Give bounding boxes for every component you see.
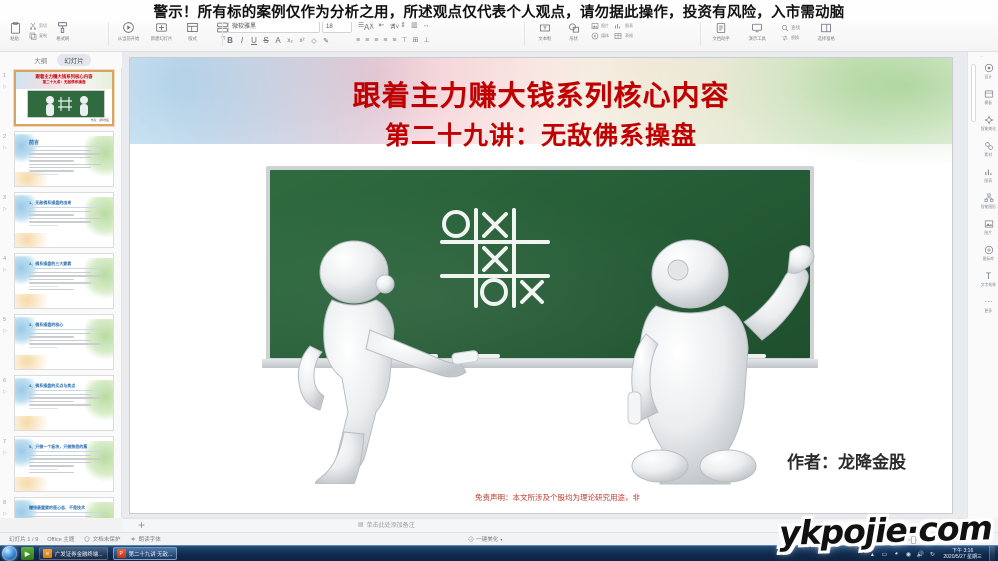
warning-banner: 警示！所有标的案例仅作为分析之用，所述观点仅代表个人观点，请勿据此操作，投资有风… — [0, 0, 998, 22]
ribbon-divider-2 — [222, 22, 223, 46]
wps-presentation-window: 第二十九讲 无敌佛系操盘.pptx + 粘贴 剪切 — [0, 0, 998, 545]
thumb1-chalkboard — [27, 90, 105, 118]
rail-label-icons: 图标库 — [983, 256, 994, 261]
present-tools-label: 演示工具 — [748, 36, 765, 42]
align-center-button[interactable]: ≡ — [365, 37, 369, 44]
paragraph-toolbar-top: ☰ ⑂ ⇤ ⇥ ⇕ ▥ ↔ — [358, 21, 430, 29]
figure-left — [292, 234, 512, 484]
thumb4-deco-bottom — [15, 294, 55, 309]
thumbnail-row-5[interactable]: 5 ▷ 3、佛系操盘的核心 — [0, 312, 122, 373]
rail-item-list: 设计 模板 智能美化 — [978, 62, 998, 322]
tray-sync-icon[interactable]: ↻ — [928, 550, 936, 558]
textbox-icon — [538, 20, 553, 35]
shield-icon — [84, 536, 91, 543]
thumb3-deco-bottom — [15, 233, 55, 248]
paste-icon — [8, 20, 23, 35]
thumb5-title: 3、佛系操盘的核心 — [29, 322, 63, 328]
ribbon-divider-1 — [108, 22, 109, 46]
columns-button[interactable]: ▥ — [411, 21, 418, 29]
media-icon — [590, 31, 599, 40]
bold-button[interactable]: B — [226, 36, 234, 45]
decrease-indent-button[interactable]: ⇤ — [378, 21, 384, 29]
find-icon — [780, 23, 789, 32]
subscript-button[interactable]: x₂ — [286, 38, 294, 44]
clear-format-button[interactable]: ◇ — [310, 37, 318, 45]
format-painter-icon — [55, 20, 70, 35]
slide-author[interactable]: 作者：龙降金股 — [787, 448, 906, 473]
table-button[interactable]: 表格 — [614, 31, 634, 40]
present-tools-icon — [750, 20, 765, 35]
thumbnail-row-2[interactable]: 2 ▷ 前言 — [0, 129, 122, 190]
text-highlight-button[interactable]: ✎ — [322, 37, 330, 45]
material-icon — [983, 140, 994, 151]
cut-icon — [28, 21, 37, 30]
align-top-button[interactable]: ⊤ — [401, 36, 407, 44]
taskbar-label-wps: 第二十九讲 无敌... — [129, 550, 173, 558]
rail-item-beautify[interactable]: 智能美化 — [978, 114, 998, 131]
picture-label: 图片 — [601, 23, 609, 29]
template-icon — [983, 88, 994, 99]
slide-edit-area[interactable]: 跟着主力赚大钱系列核心内容 第二十九讲：无敌佛系操盘 — [122, 52, 967, 518]
ribbon-toolbar: 粘贴 剪切 复制 — [0, 18, 998, 52]
thumb7-body — [29, 455, 101, 475]
thumb7-rule — [28, 451, 102, 452]
bullets-button[interactable]: ☰ — [358, 21, 364, 29]
thumbnail-row-1[interactable]: 1 ▷ 跟着主力赚大钱系列核心内容 第二十九讲：无敌佛系操盘 — [0, 68, 122, 129]
thumbnail-card-6[interactable]: 4、佛系操盘的买点与卖点 — [14, 375, 114, 431]
image-rail-icon — [983, 218, 994, 229]
font-name-input[interactable]: 微软雅黑 — [228, 21, 320, 33]
selection-pane-icon — [819, 20, 834, 35]
tray-expand-icon[interactable]: ▴ — [868, 550, 876, 558]
copy-button[interactable]: 复制 — [28, 31, 48, 40]
beautify-icon — [983, 114, 994, 125]
shape-icon — [567, 20, 582, 35]
tab-slides[interactable]: 幻灯片 — [57, 54, 91, 66]
copy-label: 复制 — [39, 33, 47, 39]
align-left-button[interactable]: ≡ — [356, 37, 360, 44]
thumb1-author: 作者：龙降金股 — [91, 118, 109, 122]
thumbnail-number-6: 6 — [3, 378, 6, 384]
thumbnail-play-icon-5[interactable]: ▷ — [3, 328, 7, 334]
clipboard-minor-group: 剪切 复制 — [28, 19, 48, 40]
status-protection: 文档未保护 — [93, 535, 121, 543]
thumbnail-number-4: 4 — [3, 256, 6, 262]
thumb8-title: 赚钱最重要的是心态、不是技术 — [29, 505, 85, 511]
slide-disclaimer[interactable]: 免责声明：本文所涉及个股均为理论研究用途，非 — [475, 492, 640, 503]
numbering-button[interactable]: ⑂ — [369, 22, 373, 29]
font-format-toolbar: B I U S A x₂ x² ◇ ✎ — [226, 36, 330, 45]
doc-assistant-icon — [714, 20, 729, 35]
slide-picture[interactable] — [258, 166, 818, 496]
chart-label: 图表 — [625, 23, 633, 29]
thumbnail-card-1[interactable]: 跟着主力赚大钱系列核心内容 第二十九讲：无敌佛系操盘 — [14, 70, 114, 126]
thumbnail-card-4[interactable]: 2、佛系操盘的三大要素 — [14, 253, 114, 309]
thumb1-subtitle: 第二十九讲：无敌佛系操盘 — [16, 80, 112, 85]
rail-scroll-handle[interactable] — [971, 64, 976, 122]
layout-icon — [185, 20, 200, 35]
replace-button[interactable]: 替换 — [780, 33, 801, 42]
layout-label: 版式 — [189, 36, 198, 42]
thumbnail-number-3: 3 — [3, 195, 6, 201]
thumbnail-play-icon-1[interactable]: ▷ — [3, 84, 7, 90]
thumb1-title: 跟着主力赚大钱系列核心内容 — [16, 74, 112, 80]
thumb4-title: 2、佛系操盘的三大要素 — [29, 261, 71, 267]
find-replace-group: 查找 替换 — [780, 19, 801, 42]
notes-icon: ▤ — [358, 521, 364, 528]
insert-minor-group-2: 图表 表格 — [614, 19, 634, 40]
align-right-button[interactable]: ≡ — [374, 37, 378, 44]
copy-icon — [28, 31, 37, 40]
new-slide-label: 新建幻灯片 — [151, 36, 173, 42]
table-icon — [614, 31, 623, 40]
thumb3-title: 1、无敌佛系操盘的由来 — [29, 200, 71, 206]
line-spacing-button[interactable]: ⇕ — [400, 21, 406, 29]
thumb5-body — [29, 333, 101, 350]
text-rail-icon: T — [983, 270, 994, 281]
thumbnail-play-icon-8[interactable]: ▷ — [3, 511, 7, 517]
ribbon-group-insert: 文本框 形状 图片 — [532, 19, 634, 51]
warning-banner-text: 警示！所有标的案例仅作为分析之用，所述观点仅代表个人观点，请勿据此操作，投资有风… — [154, 1, 845, 22]
font-size-input[interactable]: 18 — [322, 21, 352, 33]
thumb3-rule — [28, 207, 102, 208]
rail-label-design: 设计 — [985, 74, 993, 79]
tray-shield-icon[interactable]: ◉ — [904, 550, 912, 558]
current-slide-canvas[interactable]: 跟着主力赚大钱系列核心内容 第二十九讲：无敌佛系操盘 — [130, 58, 952, 513]
distribute-button[interactable]: ≡ — [392, 37, 396, 44]
notes-placeholder: 单击此处添加备注 — [367, 520, 415, 529]
clock-date: 2020/5/27 星期三 — [943, 554, 982, 560]
thumbnail-number-7: 7 — [3, 439, 6, 445]
thumb2-title: 前言 — [29, 139, 39, 146]
rail-label-template: 模板 — [985, 100, 993, 105]
insert-minor-group: 图片 媒体 — [590, 19, 610, 40]
doc-assistant-button[interactable]: 文档助手 — [708, 19, 734, 42]
thumb8-rule — [28, 512, 102, 513]
chart-button[interactable]: 图表 — [614, 21, 634, 30]
rail-item-material[interactable]: 素材 — [978, 140, 998, 157]
rail-label-beautify: 智能美化 — [981, 126, 996, 131]
align-bottom-button[interactable]: ⊥ — [423, 36, 429, 44]
thumbnail-play-icon-4[interactable]: ▷ — [3, 267, 7, 273]
cut-button[interactable]: 剪切 — [28, 21, 48, 30]
thumb7-deco-bottom — [15, 477, 55, 492]
selection-pane-label: 选择窗格 — [817, 36, 834, 42]
taskbar-label-broker: 广发证券金融终端... — [55, 550, 103, 558]
rail-item-chart[interactable]: 图表 — [978, 166, 998, 183]
rail-label-more: 更多 — [985, 308, 993, 313]
taskbar-button-broker[interactable]: e 广发证券金融终端... — [39, 547, 108, 560]
magic-wand-icon — [467, 536, 474, 543]
taskbar-clock[interactable]: 下午 3:16 2020/5/27 星期三 — [940, 548, 985, 560]
start-button[interactable] — [2, 546, 17, 561]
table-label: 表格 — [625, 33, 633, 39]
wps-ppt-icon: P — [117, 549, 126, 558]
italic-button[interactable]: I — [238, 36, 246, 45]
format-painter-label: 格式刷 — [56, 36, 69, 42]
ribbon-group-slide: 从当前开始 新建幻灯片 版式 — [114, 19, 236, 51]
rail-item-image[interactable]: 图片 — [978, 218, 998, 235]
thumbnail-row-4[interactable]: 4 ▷ 2、佛系操盘的三大要素 — [0, 251, 122, 312]
thumbnail-number-2: 2 — [3, 134, 6, 140]
strikethrough-button[interactable]: S — [262, 36, 270, 45]
thumbnail-play-icon-3[interactable]: ▷ — [3, 206, 7, 212]
thumbnail-number-5: 5 — [3, 317, 6, 323]
start-slideshow-label: 从当前开始 — [118, 36, 140, 42]
status-theme[interactable]: Office 主题 — [47, 535, 74, 543]
status-reading: 朗读字体 — [138, 535, 160, 543]
thumb5-deco-bottom — [15, 355, 55, 370]
align-middle-button[interactable]: ⊞ — [413, 36, 419, 44]
style-icon — [983, 62, 994, 73]
rail-item-more[interactable]: ··· 更多 — [978, 296, 998, 313]
thumb8-body — [29, 516, 101, 518]
screen: 第二十九讲 无敌佛系操盘.pptx + 粘贴 剪切 — [0, 0, 998, 561]
status-reading-row[interactable]: 朗读字体 — [129, 535, 160, 543]
selection-pane-button[interactable]: 选择窗格 — [813, 19, 839, 42]
rail-item-text[interactable]: T 文字效果 — [978, 270, 998, 287]
site-watermark: ykpojie·com — [779, 508, 993, 553]
thumb2-rule — [28, 146, 102, 147]
thumb4-rule — [28, 268, 102, 269]
format-painter-button[interactable]: 格式刷 — [50, 19, 76, 42]
thumb6-rule — [28, 390, 102, 391]
thumb3-body — [29, 211, 101, 228]
thumbnail-row-8[interactable]: 8 ▷ 赚钱最重要的是心态、不是技术 — [0, 495, 122, 518]
slide-thumbnail-pane: ‹‹ 大纲 幻灯片 1 ▷ 跟着主力赚大钱系列核心内容 第二十九讲：无敌佛系操盘 — [0, 52, 122, 518]
paste-button[interactable]: 粘贴 — [2, 19, 28, 42]
replace-icon — [780, 33, 789, 42]
status-protection-row[interactable]: 文档未保护 — [84, 535, 121, 543]
thumb4-body — [29, 272, 101, 292]
slide-title[interactable]: 跟着主力赚大钱系列核心内容 — [130, 74, 952, 114]
rail-item-diagram[interactable]: 智能图形 — [978, 192, 998, 209]
thumbnail-number-1: 1 — [3, 73, 6, 79]
thumbnail-row-3[interactable]: 3 ▷ 1、无敌佛系操盘的由来 — [0, 190, 122, 251]
thumb7-title: 5、只做一个板块，只做熟悉的票 — [29, 444, 87, 450]
rail-label-material: 素材 — [985, 152, 993, 157]
start-slideshow-icon — [121, 20, 136, 35]
layout-button[interactable]: 版式 — [180, 19, 206, 42]
browser-icon: e — [43, 549, 52, 558]
new-slide-icon — [154, 20, 169, 35]
find-button[interactable]: 查找 — [780, 23, 801, 32]
shape-label: 形状 — [570, 36, 579, 42]
rail-item-template[interactable]: 模板 — [978, 88, 998, 105]
tray-monitor-icon[interactable]: ▭ — [880, 550, 888, 558]
text-direction-button[interactable]: ↔ — [423, 22, 430, 29]
thumb5-rule — [28, 329, 102, 330]
thumbnail-card-3[interactable]: 1、无敌佛系操盘的由来 — [14, 192, 114, 248]
justify-button[interactable]: ≡ — [383, 37, 387, 44]
thumb2-body — [29, 150, 101, 177]
notes-placeholder-row[interactable]: ▤ 单击此处添加备注 — [358, 520, 415, 529]
rail-label-image: 图片 — [985, 230, 993, 235]
thumbnail-row-7[interactable]: 7 ▷ 5、只做一个板块，只做熟悉的票 — [0, 434, 122, 495]
thumbnail-pane-tabs: 大纲 幻灯片 — [0, 52, 122, 68]
find-label: 查找 — [791, 24, 800, 30]
textbox-label: 文本框 — [539, 36, 552, 42]
thumbnail-card-7[interactable]: 5、只做一个板块，只做熟悉的票 — [14, 436, 114, 492]
quick-launch-media-icon[interactable]: ▶ — [21, 547, 34, 560]
taskbar-button-wps[interactable]: P 第二十九讲 无敌... — [113, 547, 178, 560]
doc-assistant-label: 文档助手 — [712, 36, 729, 42]
underline-button[interactable]: U — [250, 36, 258, 45]
right-tool-rail[interactable]: ·· 设计 模板 — [967, 52, 998, 518]
status-slide-counter[interactable]: 幻灯片 1 / 9 — [9, 535, 38, 543]
rail-label-chart: 图表 — [985, 178, 993, 183]
icon-rail-icon — [983, 244, 994, 255]
status-beautify-row[interactable]: 一键美化 ▾ — [467, 535, 502, 543]
ribbon-group-clipboard: 粘贴 剪切 复制 — [2, 19, 76, 51]
thumbnail-list[interactable]: 1 ▷ 跟着主力赚大钱系列核心内容 第二十九讲：无敌佛系操盘 — [0, 68, 122, 518]
slide-subtitle[interactable]: 第二十九讲：无敌佛系操盘 — [130, 116, 952, 152]
paste-label: 粘贴 — [11, 36, 20, 42]
picture-icon — [590, 21, 599, 30]
cut-label: 剪切 — [39, 23, 47, 29]
chevron-down-icon[interactable]: ▾ — [500, 537, 502, 542]
status-beautify: 一键美化 — [476, 535, 498, 543]
thumbnail-card-2[interactable]: 前言 — [14, 131, 114, 187]
ribbon-group-tools: 文档助手 演示工具 查找 — [708, 19, 839, 51]
thumbnail-play-icon-6[interactable]: ▷ — [3, 389, 7, 395]
rail-item-design[interactable]: 设计 — [978, 62, 998, 79]
thumbnail-card-5[interactable]: 3、佛系操盘的核心 — [14, 314, 114, 370]
present-tools-button[interactable]: 演示工具 — [744, 19, 770, 42]
start-slideshow-button[interactable]: 从当前开始 — [114, 19, 143, 42]
superscript-button[interactable]: x² — [298, 38, 306, 44]
thumb6-title: 4、佛系操盘的买点与卖点 — [29, 383, 75, 389]
speaker-icon — [129, 536, 136, 543]
thumbnail-row-6[interactable]: 6 ▷ 4、佛系操盘的买点与卖点 — [0, 373, 122, 434]
rail-label-diagram: 智能图形 — [981, 204, 996, 209]
add-note-plus-icon[interactable]: + — [138, 518, 145, 532]
tray-user-icon[interactable]: ◕ — [892, 550, 900, 558]
diagram-icon — [983, 192, 994, 203]
thumbnail-number-8: 8 — [3, 500, 6, 506]
tab-outline[interactable]: 大纲 — [31, 54, 50, 66]
chart-icon — [614, 21, 623, 30]
rail-item-icons[interactable]: 图标库 — [978, 244, 998, 261]
chart-rail-icon — [983, 166, 994, 177]
show-desktop-button[interactable] — [989, 546, 995, 561]
picture-button[interactable]: 图片 — [590, 21, 610, 30]
text-shadow-button[interactable]: A — [274, 36, 282, 45]
thumbnail-card-8[interactable]: 赚钱最重要的是心态、不是技术 — [14, 497, 114, 518]
shape-button[interactable]: 形状 — [561, 19, 587, 42]
rail-collapse-icon[interactable]: ·· — [980, 54, 983, 60]
thumb6-deco-bottom — [15, 416, 55, 431]
ribbon-divider-3 — [524, 22, 525, 46]
thumb1-figures-icon — [28, 91, 106, 119]
media-label: 媒体 — [601, 33, 609, 39]
media-button[interactable]: 媒体 — [590, 31, 610, 40]
rail-label-text: 文字效果 — [981, 282, 996, 287]
tray-volume-icon[interactable]: 🔊 — [916, 550, 924, 558]
more-rail-icon: ··· — [983, 296, 994, 307]
paragraph-toolbar-bottom: ≡ ≡ ≡ ≡ ≡ ⊤ ⊞ ⊥ — [356, 36, 430, 44]
ribbon-divider-4 — [700, 22, 701, 46]
textbox-button[interactable]: 文本框 — [532, 19, 558, 42]
thumbnail-play-icon-7[interactable]: ▷ — [3, 450, 7, 456]
thumbnail-play-icon-2[interactable]: ▷ — [3, 145, 7, 151]
new-slide-button[interactable]: 新建幻灯片 — [147, 19, 176, 42]
increase-indent-button[interactable]: ⇥ — [389, 21, 395, 29]
thumb6-body — [29, 394, 101, 411]
replace-label: 替换 — [791, 35, 799, 41]
